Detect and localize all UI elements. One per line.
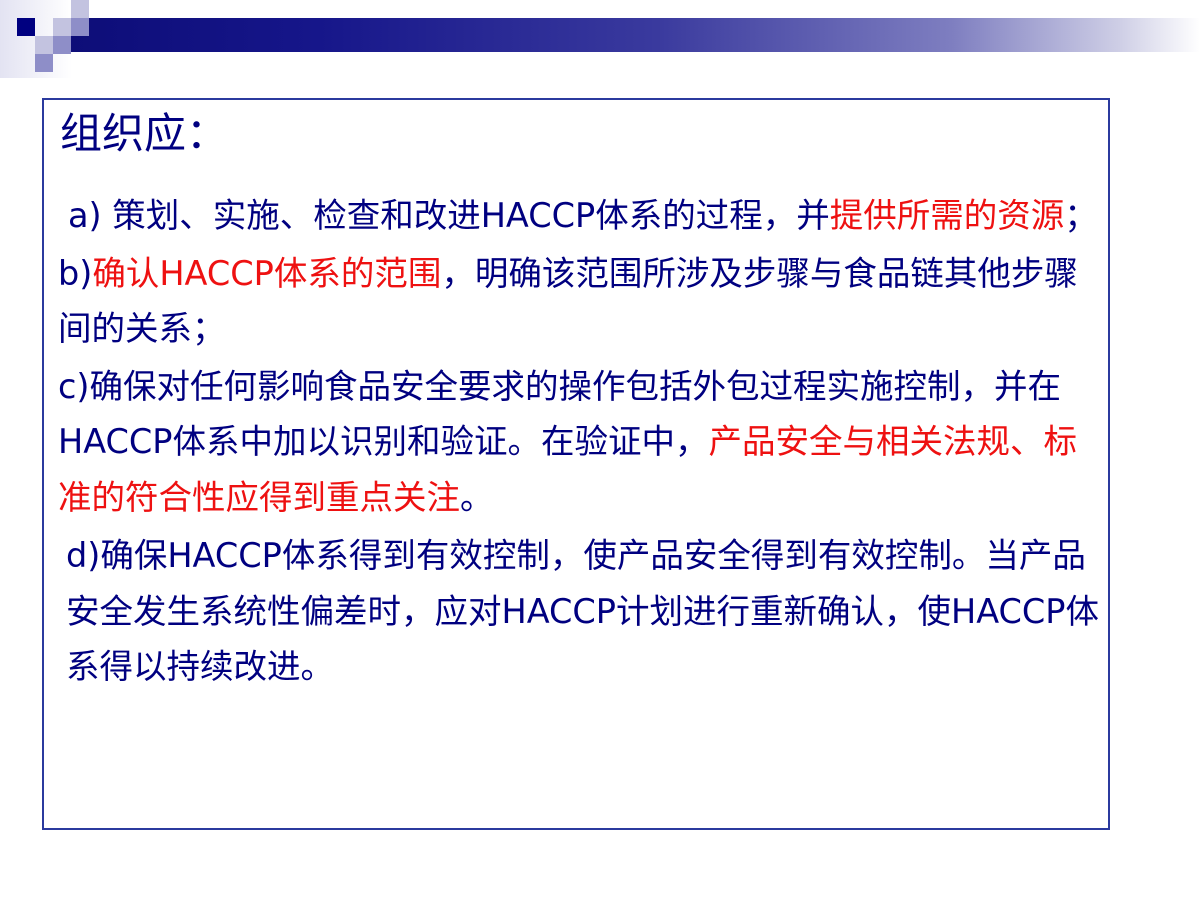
mosaic-square-mid-b (53, 36, 71, 54)
run-b-0: b) (58, 254, 92, 293)
list-item-a: a) 策划、实施、检查和改进HACCP体系的过程，并提供所需的资源； (54, 188, 1102, 244)
page-title: 组织应： (60, 110, 228, 158)
body-content: a) 策划、实施、检查和改进HACCP体系的过程，并提供所需的资源； b)确认H… (54, 188, 1102, 695)
mosaic-square-light-a (53, 18, 71, 36)
run-a-2: ； (1064, 196, 1098, 235)
run-d-0: d)确保HACCP体系得到有效控制，使产品安全得到有效控制。当产品安全发生系统性… (66, 536, 1099, 686)
run-b-1: 确认HACCP体系的范围 (92, 254, 441, 293)
run-c-2: 。 (460, 478, 494, 517)
header-gradient-bar (70, 18, 1200, 52)
mosaic-square-light-b (35, 36, 53, 54)
mosaic-square-mid-c (35, 54, 53, 72)
list-item-b: b)确认HACCP体系的范围，明确该范围所涉及步骤与食品链其他步骤间的关系； (54, 246, 1102, 357)
slide-header-decoration (0, 0, 1200, 78)
run-a-0: a) 策划、实施、检查和改进HACCP体系的过程，并 (68, 196, 830, 235)
mosaic-square-navy (17, 18, 35, 36)
list-item-d: d)确保HACCP体系得到有效控制，使产品安全得到有效控制。当产品安全发生系统性… (54, 528, 1102, 695)
mosaic-square-mid-a (71, 18, 89, 36)
content-frame: 组织应： a) 策划、实施、检查和改进HACCP体系的过程，并提供所需的资源； … (42, 98, 1110, 830)
mosaic-square-light-top (71, 0, 89, 18)
run-a-1: 提供所需的资源 (830, 196, 1065, 235)
list-item-c: c)确保对任何影响食品安全要求的操作包括外包过程实施控制，并在HACCP体系中加… (54, 359, 1102, 526)
